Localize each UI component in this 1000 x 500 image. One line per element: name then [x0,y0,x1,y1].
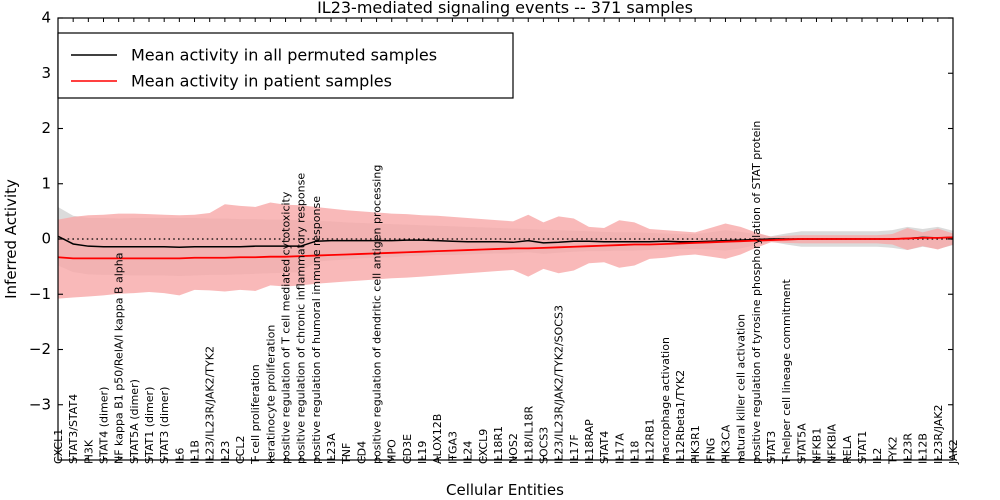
x-tick-label: STAT5A [795,423,808,464]
x-tick-label: NOS2 [507,433,520,464]
x-tick-label: TYK2 [886,436,899,465]
x-tick-label: positive regulation of T cell mediated c… [280,191,293,464]
x-tick-label: STAT3 (dimer) [158,387,171,464]
x-tick-label: PI3K [82,439,95,464]
x-tick-label: TNF [340,443,353,465]
x-tick-label: natural killer cell activation [735,314,748,464]
x-tick-label: IL1B [189,440,202,464]
x-tick-label: positive regulation of tyrosine phosphor… [750,121,763,464]
x-tick-label: IL19 [416,441,429,464]
y-tick-label: −1 [29,285,51,303]
x-tick-label: STAT4 (dimer) [98,387,111,464]
x-tick-label: IL18 [628,441,641,464]
x-tick-label: ALOX12B [431,414,444,464]
x-tick-label: NF kappa B1 p50/RelA/I kappa B alpha [113,253,126,465]
y-tick-label: 0 [41,230,51,248]
chart-figure: −3−2−101234 CXCL1STAT3/STAT4PI3KSTAT4 (d… [0,0,1000,500]
x-tick-label: MPO [386,439,399,464]
x-tick-label: PIK3CA [719,424,732,464]
x-tick-label: STAT4 [598,431,611,464]
y-tick-label: 1 [41,174,51,192]
x-tick-label: STAT3 [765,431,778,464]
x-tick-label: positive regulation of chronic inflammat… [295,173,308,464]
x-tick-label: RELA [841,435,854,464]
x-tick-label: CXCL1 [52,429,65,464]
x-tick-label: CD4 [355,441,368,464]
x-tick-label: IL17A [613,433,626,464]
x-axis-title: Cellular Entities [446,481,564,499]
x-tick-label: IL23/IL23R/JAK2/TYK2 [204,346,217,464]
x-tick-label: IL23/IL23R/JAK2/TYK2/SOCS3 [553,305,566,464]
x-tick-label: positive regulation of dendritic cell an… [371,165,384,464]
x-tick-label: CCL2 [234,436,247,465]
x-tick-label: IL6 [173,448,186,464]
x-tick-label: IL18R1 [492,426,505,464]
y-axis-title: Inferred Activity [2,179,20,299]
x-tick-label: IL17F [568,434,581,464]
x-tick-label: IL23A [325,433,338,464]
x-tick-label: JAK2 [947,439,960,465]
y-tick-label: 4 [41,9,51,27]
legend-label-permuted: Mean activity in all permuted samples [131,46,437,65]
x-tick-label: IFNG [704,438,717,464]
x-tick-label: IL12B [917,433,930,464]
y-tick-label: −3 [29,395,51,413]
x-tick-label: IL2 [871,448,884,464]
legend-label-patient: Mean activity in patient samples [131,72,392,91]
chart-canvas: −3−2−101234 CXCL1STAT3/STAT4PI3KSTAT4 (d… [0,0,1000,500]
y-tick-label: −2 [29,340,51,358]
x-tick-label: keratinocyte proliferation [264,325,277,464]
x-tick-label: ITGA3 [446,431,459,464]
y-tick-label: 3 [41,64,51,82]
x-tick-label: NFKB1 [810,428,823,464]
x-tick-label: NFKBIA [826,423,839,464]
x-tick-label: IL12RB1 [644,418,657,464]
x-tick-label: T-helper cell lineage commitment [780,278,793,465]
x-tick-label: STAT1 (dimer) [143,387,156,464]
x-tick-label: STAT1 [856,431,869,464]
y-tick-label: 2 [41,119,51,137]
x-tick-label: IL23R/JAK2 [932,404,945,464]
x-tick-label: CXCL9 [477,429,490,464]
x-tick-label: STAT3/STAT4 [67,394,80,464]
x-tick-label: IL24 [462,441,475,464]
chart-legend[interactable]: Mean activity in all permuted samples Me… [58,33,513,98]
x-tick-label: STAT5A (dimer) [128,379,141,464]
x-tick-label: positive regulation of humoral immune re… [310,196,323,464]
x-tick-label: IL23 [219,441,232,464]
x-tick-label: PIK3R1 [689,425,702,464]
x-tick-label: macrophage activation [659,337,672,464]
x-tick-label: IL12Rbeta1/TYK2 [674,370,687,464]
chart-title: IL23-mediated signaling events -- 371 sa… [317,0,693,17]
x-tick-label: SOCS3 [537,427,550,464]
x-tick-label: T cell proliferation [249,364,262,465]
x-tick-label: IL18/IL18R [522,406,535,464]
x-tick-label: CD3E [401,434,414,464]
x-tick-label: IL23R [901,433,914,464]
x-tick-label: IL18RAP [583,419,596,464]
